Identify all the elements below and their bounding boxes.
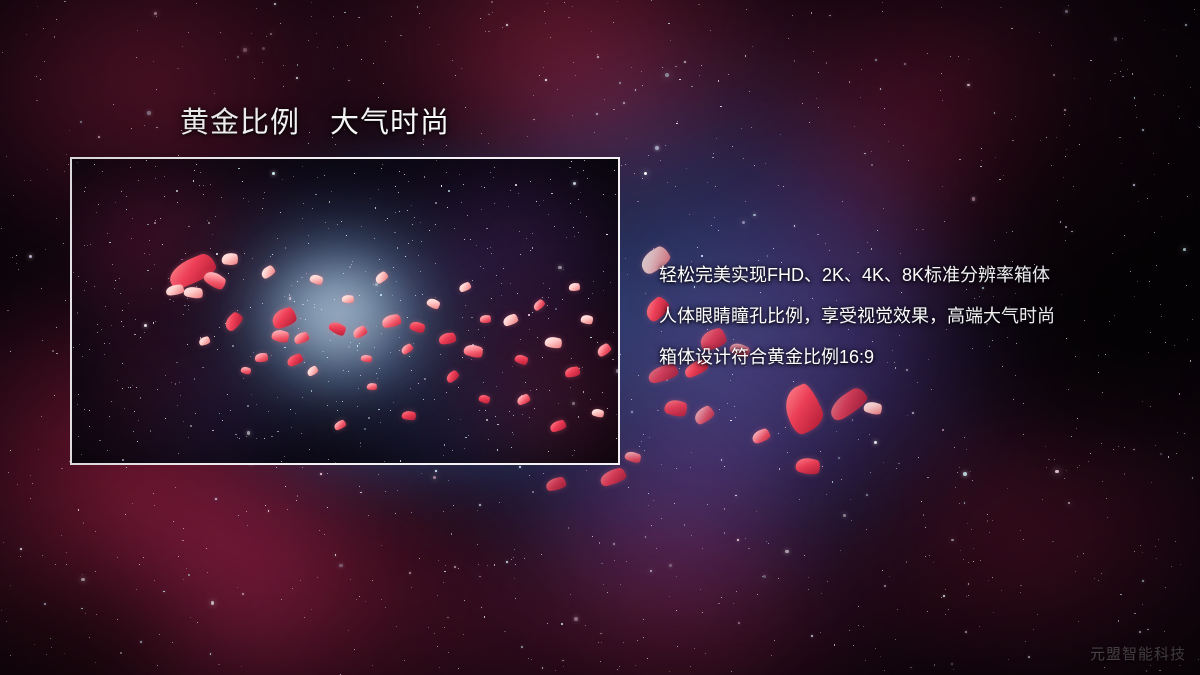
framed-galaxy-image [70,157,620,465]
body-line-1: 轻松完美实现FHD、2K、4K、8K标准分辨率箱体 [659,255,1179,296]
body-line-2: 人体眼睛瞳孔比例，享受视觉效果，高端大气时尚 [659,296,1179,337]
presentation-slide: 黄金比例 大气时尚 轻松完美实现FHD、2K、4K、8K标准分辨率箱体 人体眼睛… [0,0,1200,675]
slide-body-text: 轻松完美实现FHD、2K、4K、8K标准分辨率箱体 人体眼睛瞳孔比例，享受视觉效… [659,255,1179,378]
framed-image-content [72,159,618,463]
body-line-3: 箱体设计符合黄金比例16:9 [659,337,1179,378]
slide-title: 黄金比例 大气时尚 [180,99,450,141]
watermark-logo-text: 元盟智能科技 [1090,643,1186,664]
